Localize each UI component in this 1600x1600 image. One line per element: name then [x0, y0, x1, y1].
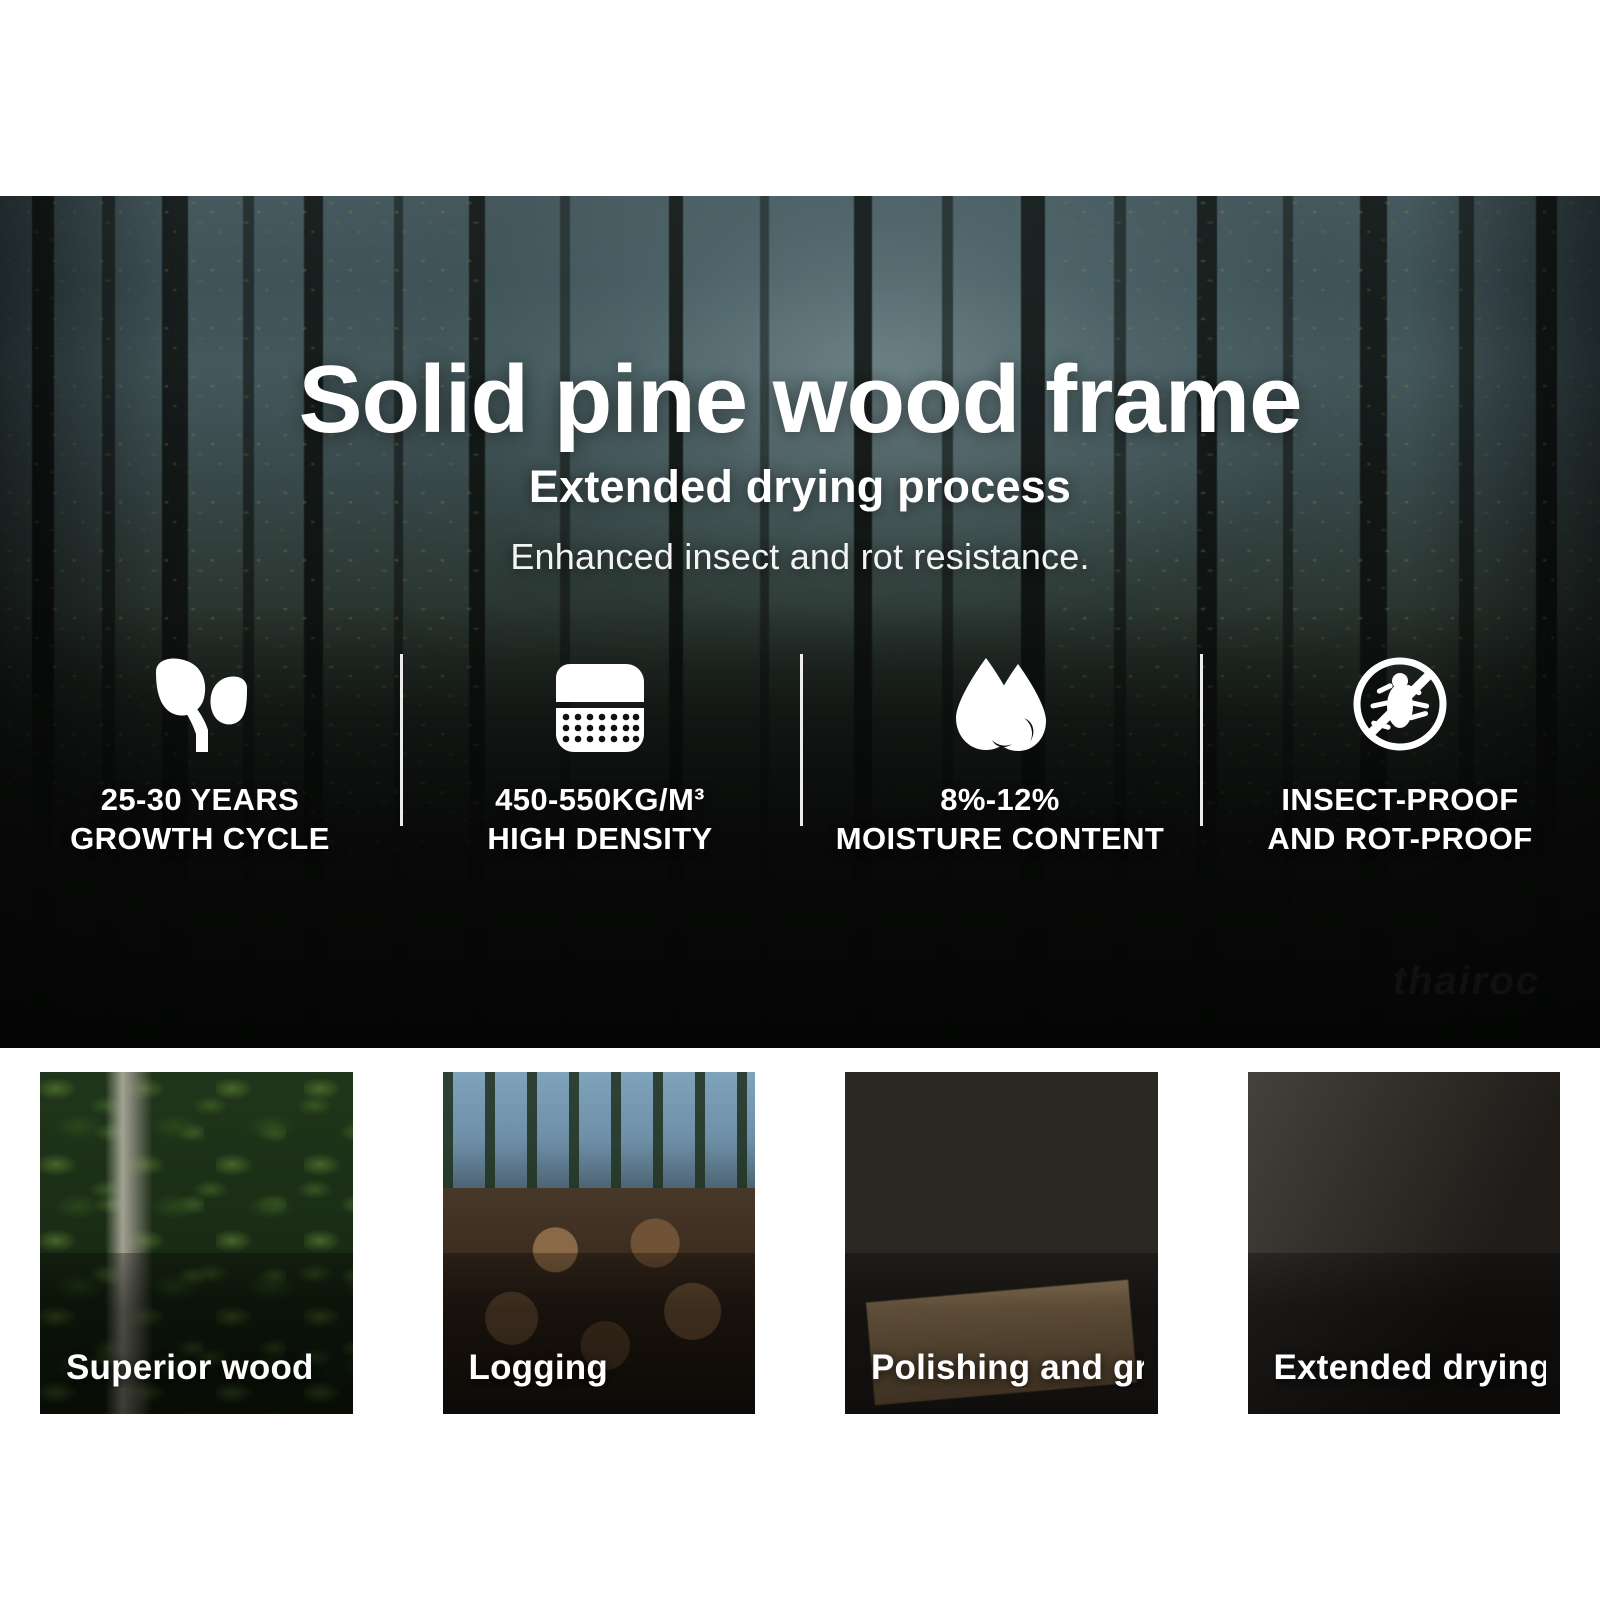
- feature-high-density-text: 450-550KG/M³ HIGH DENSITY: [487, 780, 712, 858]
- feature-growth-cycle: 25-30 YEARS GROWTH CYCLE: [0, 636, 400, 858]
- gallery-caption: Superior wood: [66, 1348, 339, 1388]
- feature-list: 25-30 YEARS GROWTH CYCLE: [0, 636, 1600, 858]
- gallery-caption: Logging: [469, 1348, 742, 1388]
- feature-insect-rot-proof-line2: AND ROT-PROOF: [1267, 819, 1532, 858]
- feature-insect-rot-proof-text: INSECT-PROOF AND ROT-PROOF: [1267, 780, 1532, 858]
- infographic-page: Solid pine wood frame Extended drying pr…: [0, 0, 1600, 1600]
- hero-tagline: Enhanced insect and rot resistance.: [0, 536, 1600, 578]
- gallery-caption: Polishing and grinding: [871, 1348, 1144, 1388]
- caption-scrim: [1248, 1253, 1561, 1414]
- gallery-item-polishing-and-grinding[interactable]: Polishing and grinding: [845, 1072, 1158, 1414]
- caption-scrim: [443, 1253, 756, 1414]
- water-droplets-icon: [948, 650, 1052, 754]
- feature-growth-cycle-line2: GROWTH CYCLE: [70, 819, 330, 858]
- gallery-caption: Extended drying process: [1274, 1348, 1547, 1388]
- feature-high-density: 450-550KG/M³ HIGH DENSITY: [400, 636, 800, 858]
- gallery-item-extended-drying-process[interactable]: Extended drying process: [1248, 1072, 1561, 1414]
- process-gallery: Superior wood Logging Polishing and grin…: [0, 1056, 1600, 1430]
- caption-scrim: [845, 1253, 1158, 1414]
- feature-insect-rot-proof: INSECT-PROOF AND ROT-PROOF: [1200, 636, 1600, 858]
- page-title: Solid pine wood frame: [0, 352, 1600, 448]
- feature-moisture-content-text: 8%-12% MOISTURE CONTENT: [836, 780, 1164, 858]
- gallery-item-logging[interactable]: Logging: [443, 1072, 756, 1414]
- feature-growth-cycle-text: 25-30 YEARS GROWTH CYCLE: [70, 780, 330, 858]
- feature-high-density-line2: HIGH DENSITY: [487, 819, 712, 858]
- caption-scrim: [40, 1253, 353, 1414]
- feature-insect-rot-proof-line1: INSECT-PROOF: [1281, 782, 1518, 817]
- no-insect-icon: [1350, 650, 1450, 754]
- feature-moisture-content-line2: MOISTURE CONTENT: [836, 819, 1164, 858]
- feature-high-density-line1: 450-550KG/M³: [495, 782, 705, 817]
- feature-moisture-content-line1: 8%-12%: [940, 782, 1060, 817]
- watermark: thairoc: [1393, 959, 1540, 1004]
- hero-subtitle: Extended drying process: [0, 461, 1600, 513]
- leaf-sprout-icon: [148, 650, 252, 754]
- mattress-density-icon: [550, 650, 650, 754]
- feature-growth-cycle-line1: 25-30 YEARS: [101, 782, 300, 817]
- feature-moisture-content: 8%-12% MOISTURE CONTENT: [800, 636, 1200, 858]
- gallery-item-superior-wood[interactable]: Superior wood: [40, 1072, 353, 1414]
- hero-banner: Solid pine wood frame Extended drying pr…: [0, 196, 1600, 1048]
